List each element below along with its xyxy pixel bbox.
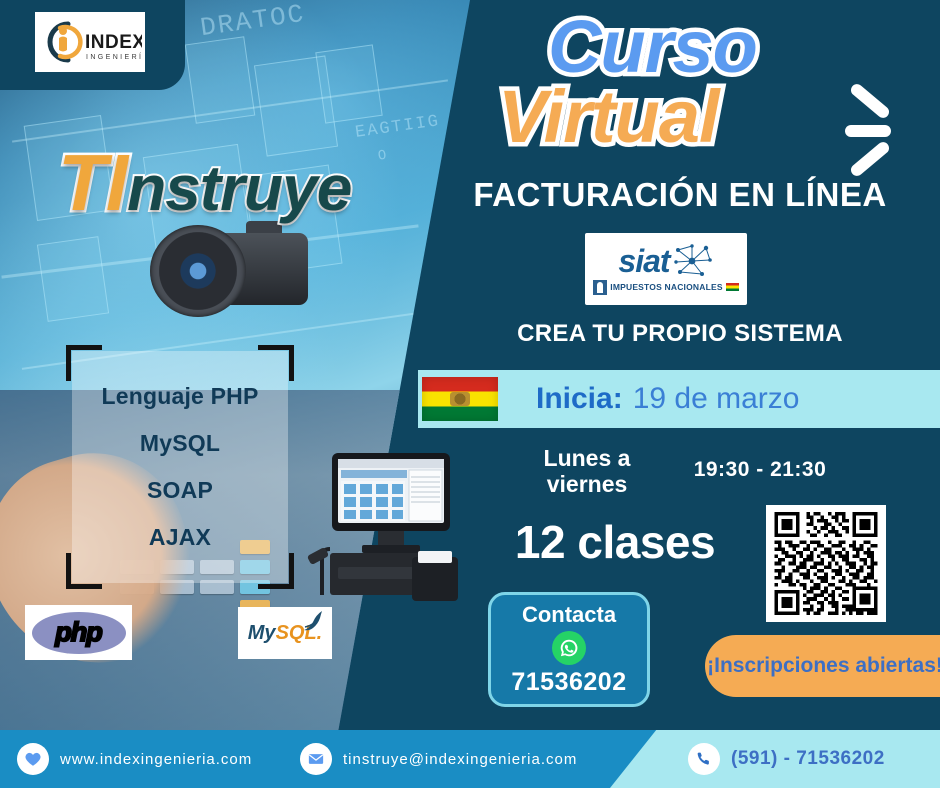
headline-virtual: Virtual: [498, 82, 719, 152]
headline-tagline: CREA TU PROPIO SISTEMA: [450, 320, 910, 348]
mysql-logo-my: My: [248, 622, 276, 645]
siat-logo-subtitle: IMPUESTOS NACIONALES: [610, 282, 722, 292]
skill-item: Lenguaje PHP: [101, 383, 258, 410]
index-logo: INDEX INGENIERÍA: [35, 12, 145, 72]
start-date-band: Inicia: 19 de marzo: [418, 370, 940, 428]
contact-box[interactable]: Contacta 71536202: [488, 592, 650, 707]
start-date-value: 19 de marzo: [633, 382, 800, 416]
headline-curso: Curso: [548, 12, 757, 82]
burst-lines-icon: [845, 95, 915, 175]
wordmark-prefix: TI: [58, 138, 127, 227]
logo-panel: INDEX INGENIERÍA: [0, 0, 185, 90]
heart-glyph: [24, 750, 42, 768]
skill-item: AJAX: [149, 524, 211, 551]
wordmark-suffix: nstruye: [127, 152, 351, 224]
inscriptions-open-badge[interactable]: ¡Inscripciones abiertas!: [705, 635, 940, 697]
siat-logo-top: siat: [618, 244, 713, 278]
footer-bar: www.indexingenieria.com tinstruye@indexi…: [0, 730, 940, 788]
whatsapp-glyph: [558, 637, 580, 659]
envelope-glyph: [307, 750, 325, 768]
footer-phone-text: (591) - 71536202: [731, 748, 885, 770]
bolivia-flag-icon: [422, 377, 498, 421]
php-logo: php: [25, 605, 132, 660]
siat-logo: siat IMPUESTOS NACIONALES: [585, 233, 747, 305]
contact-phone: 71536202: [511, 668, 626, 697]
whatsapp-icon[interactable]: [552, 631, 586, 665]
footer-website-text: www.indexingenieria.com: [60, 751, 252, 768]
footer-phone[interactable]: (591) - 71536202: [688, 743, 885, 775]
building-icon: [593, 280, 607, 295]
flyer-canvas: DRATOC EAGTIIG O: [0, 0, 940, 788]
bolivia-flag-small-icon: [726, 283, 739, 291]
camera-photo: [150, 225, 310, 317]
class-count: 12 clases: [470, 515, 760, 569]
siat-logo-text: siat: [618, 245, 669, 277]
start-date-label: Inicia:: [536, 382, 623, 416]
heart-icon: [17, 743, 49, 775]
skills-frame: Lenguaje PHP MySQL SOAP AJAX: [66, 345, 294, 589]
skill-item: SOAP: [147, 477, 213, 504]
footer-website[interactable]: www.indexingenieria.com: [17, 743, 252, 775]
schedule-time: 19:30 - 21:30: [665, 458, 855, 482]
footer-email-text: tinstruye@indexingenieria.com: [343, 751, 577, 768]
network-icon: [672, 244, 714, 278]
pos-terminal-illustration: [300, 445, 480, 610]
qr-code-image: [773, 512, 879, 615]
footer-email[interactable]: tinstruye@indexingenieria.com: [300, 743, 577, 775]
qr-code[interactable]: [766, 505, 886, 622]
headline-subtitle: FACTURACIÓN EN LÍNEA: [450, 176, 910, 214]
phone-icon: [688, 743, 720, 775]
phone-glyph: [695, 750, 713, 768]
index-logo-icon: INDEX INGENIERÍA: [38, 16, 142, 68]
siat-logo-bottom: IMPUESTOS NACIONALES: [593, 280, 738, 295]
svg-text:INDEX: INDEX: [85, 32, 142, 53]
envelope-icon: [300, 743, 332, 775]
php-logo-ellipse: php: [32, 612, 126, 654]
mysql-logo: MySQL.: [238, 607, 332, 659]
skill-item: MySQL: [140, 430, 220, 457]
skills-list: Lenguaje PHP MySQL SOAP AJAX: [66, 345, 294, 589]
php-logo-text: php: [55, 617, 101, 648]
dolphin-icon: [300, 609, 326, 639]
contact-title: Contacta: [522, 602, 616, 628]
schedule-days: Lunes a viernes: [518, 445, 656, 498]
svg-text:INGENIERÍA: INGENIERÍA: [86, 52, 142, 61]
tinstruye-wordmark: TInstruye: [58, 143, 351, 223]
